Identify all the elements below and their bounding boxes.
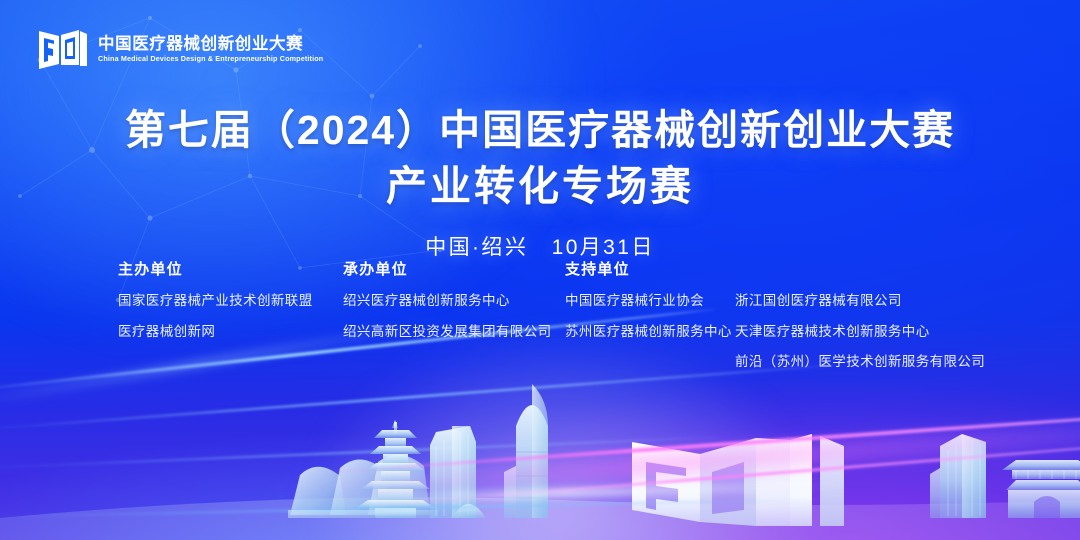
organizer-item: 国家医疗器械产业技术创新联盟 — [118, 294, 313, 308]
column-heading-undertaker: 承办单位 — [343, 262, 552, 277]
organizer-item: 绍兴医疗器械创新服务中心 — [343, 294, 552, 308]
title-block: 第七届（2024）中国医疗器械创新创业大赛 产业转化专场赛 中国·绍兴 10月3… — [0, 104, 1080, 261]
organizer-column-supporter-overflow: 浙江国创医疗器械有限公司 天津医疗器械技术创新服务中心 前沿（苏州）医学技术创新… — [735, 294, 985, 386]
organizer-item: 浙江国创医疗器械有限公司 — [735, 294, 985, 308]
title-line-1: 第七届（2024）中国医疗器械创新创业大赛 — [0, 104, 1080, 157]
brand-name-en: China Medical Devices Design & Entrepren… — [98, 55, 323, 62]
organizer-item: 中国医疗器械行业协会 — [565, 294, 732, 308]
title-line-2: 产业转化专场赛 — [0, 160, 1080, 213]
landmark-city-gate — [1002, 460, 1080, 518]
poster-canvas: 中国医疗器械创新创业大赛 China Medical Devices Desig… — [0, 0, 1080, 540]
organizer-item: 绍兴高新区投资发展集团有限公司 — [343, 325, 552, 339]
organizer-column-undertaker: 承办单位 绍兴医疗器械创新服务中心 绍兴高新区投资发展集团有限公司 — [343, 262, 552, 355]
column-heading-host: 主办单位 — [118, 262, 313, 277]
open-book-door-logo-icon — [38, 25, 88, 70]
organizer-column-host: 主办单位 国家医疗器械产业技术创新联盟 医疗器械创新网 — [118, 262, 313, 355]
brand-lockup: 中国医疗器械创新创业大赛 China Medical Devices Desig… — [38, 25, 323, 70]
brand-text: 中国医疗器械创新创业大赛 China Medical Devices Desig… — [98, 33, 323, 62]
organizer-item: 医疗器械创新网 — [118, 325, 313, 339]
landmark-pointed-tower — [504, 384, 548, 518]
organizer-item: 前沿（苏州）医学技术创新服务有限公司 — [735, 355, 985, 369]
organizer-column-supporter: 支持单位 中国医疗器械行业协会 苏州医疗器械创新服务中心 — [565, 262, 732, 355]
brand-name-cn: 中国医疗器械创新创业大赛 — [98, 36, 323, 53]
column-heading-supporter: 支持单位 — [565, 262, 732, 277]
organizer-item: 苏州医疗器械创新服务中心 — [565, 325, 732, 339]
event-location-date: 中国·绍兴 10月31日 — [0, 231, 1080, 261]
organizer-item: 天津医疗器械技术创新服务中心 — [735, 325, 985, 339]
